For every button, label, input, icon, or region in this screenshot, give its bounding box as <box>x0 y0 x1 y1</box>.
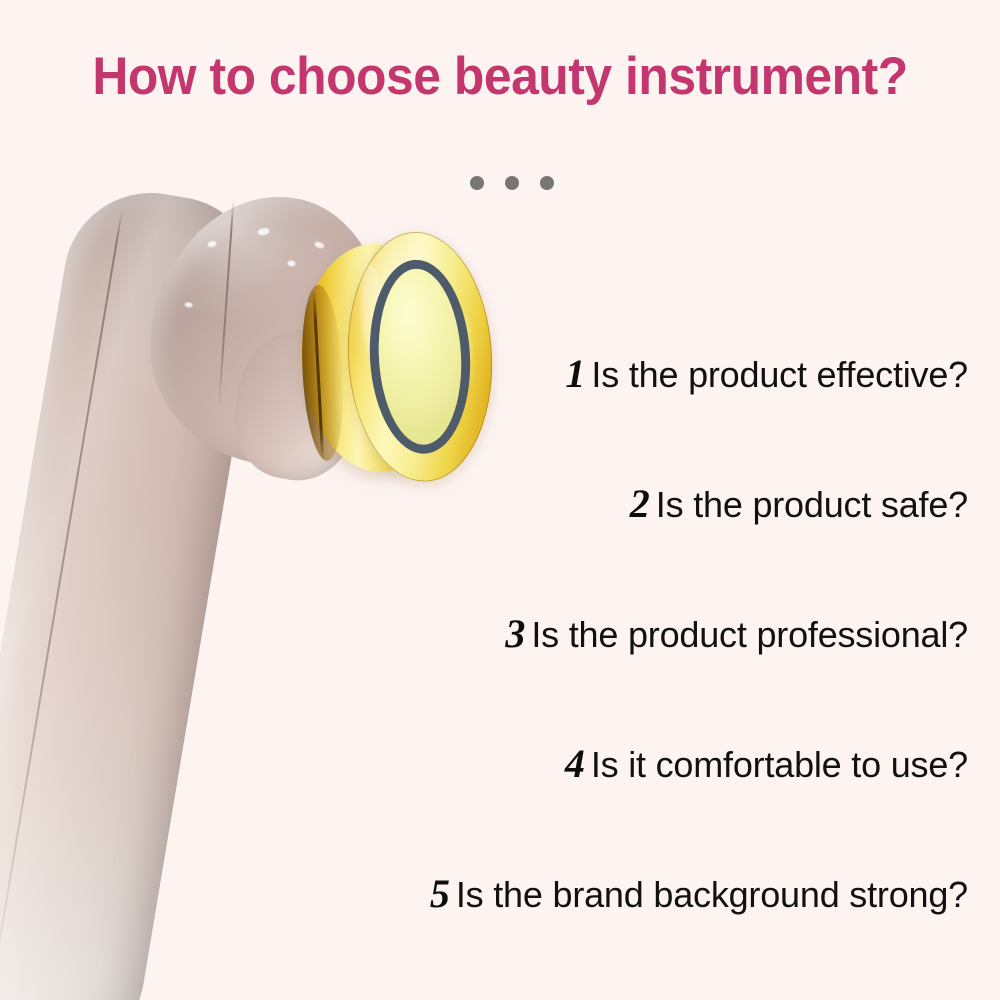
list-item: 3Is the product professional? <box>0 605 968 735</box>
divider-dot-icon <box>470 176 484 190</box>
gloss-highlight-icon <box>314 241 325 250</box>
list-item-label: Is the product safe? <box>656 484 968 525</box>
list-item: 5Is the brand background strong? <box>0 865 968 995</box>
list-item: 2Is the product safe? <box>0 475 968 605</box>
divider-dot-icon <box>505 176 519 190</box>
divider-dot-icon <box>540 176 554 190</box>
gloss-highlight-icon <box>207 240 217 248</box>
list-item-label: Is the brand background strong? <box>456 874 968 915</box>
poster-canvas: How to choose beauty instrument? 1Is the… <box>0 0 1000 1000</box>
page-title: How to choose beauty instrument? <box>30 46 970 107</box>
gloss-highlight-icon <box>184 302 193 308</box>
three-dot-divider <box>470 176 554 190</box>
gloss-highlight-icon <box>287 260 296 267</box>
list-item-label: Is it comfortable to use? <box>591 744 968 785</box>
gloss-highlight-icon <box>328 320 344 333</box>
list-item-label: Is the product professional? <box>531 614 968 655</box>
list-item-label: Is the product effective? <box>591 354 968 395</box>
gloss-highlight-icon <box>257 227 270 236</box>
list-item: 4Is it comfortable to use? <box>0 735 968 865</box>
list-item-number: 3 <box>505 611 531 656</box>
list-item-number: 1 <box>565 351 591 396</box>
list-item-number: 4 <box>565 741 591 786</box>
question-list: 1Is the product effective? 2Is the produ… <box>0 345 968 995</box>
list-item: 1Is the product effective? <box>0 345 968 475</box>
list-item-number: 5 <box>430 871 456 916</box>
list-item-number: 2 <box>630 481 656 526</box>
